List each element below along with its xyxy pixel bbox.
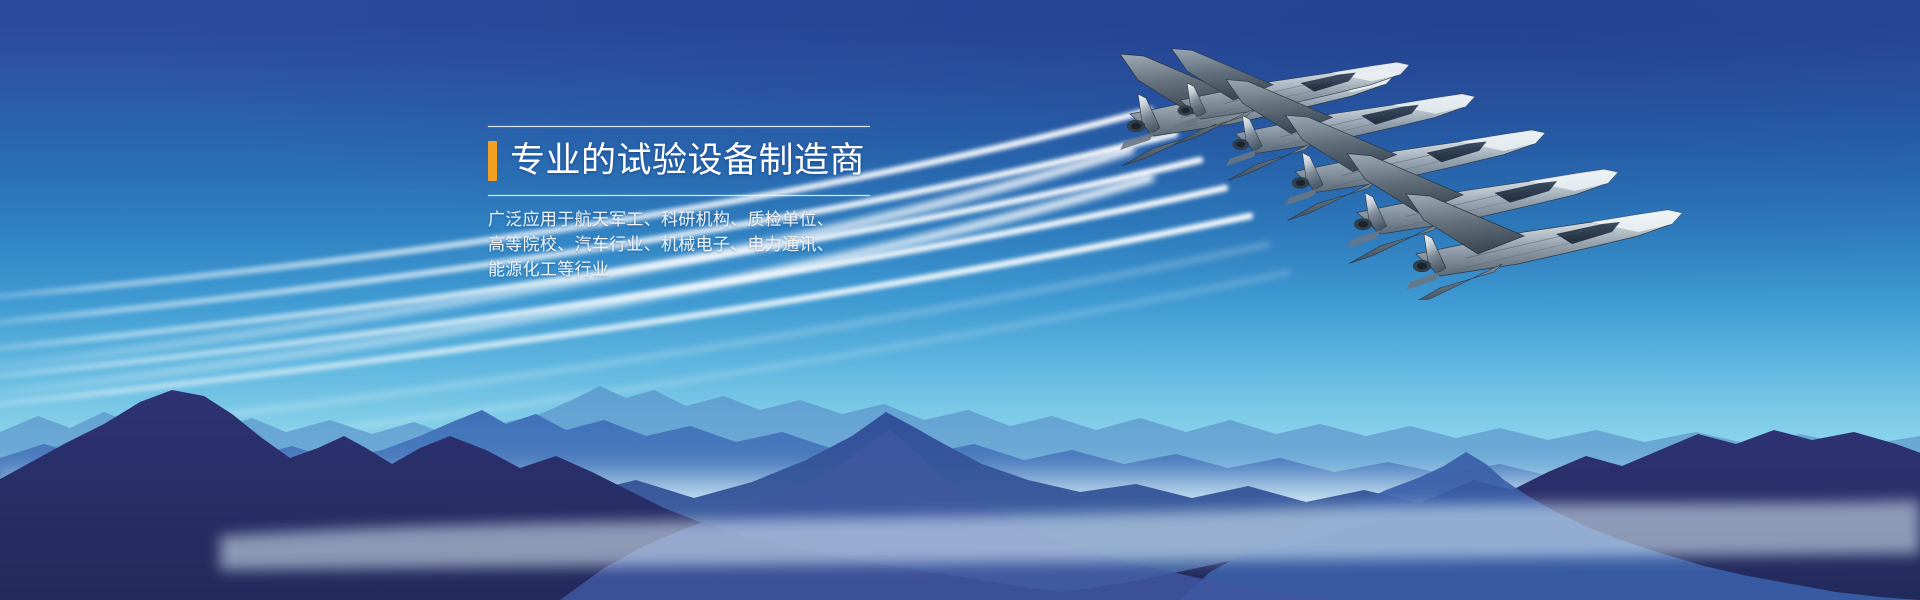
subtitle-line-2: 高等院校、汽车行业、机械电子、电力通讯、: [488, 232, 908, 257]
jet-formation-image: [1120, 40, 1920, 300]
mountain-range-silhouettes: [0, 340, 1920, 600]
divider-top: [488, 126, 870, 127]
banner-headline: 专业的试验设备制造商: [510, 141, 865, 181]
accent-bar: [488, 141, 497, 181]
subtitle-line-3: 能源化工等行业: [488, 257, 908, 282]
banner-text-block: 专业的试验设备制造商 广泛应用于航天军工、科研机构、质检单位、 高等院校、汽车行…: [488, 126, 908, 282]
headline-row: 专业的试验设备制造商: [488, 138, 908, 184]
divider-bottom-wrap: [488, 195, 908, 196]
subtitle-line-1: 广泛应用于航天军工、科研机构、质检单位、: [488, 207, 908, 232]
hero-banner: 专业的试验设备制造商 广泛应用于航天军工、科研机构、质检单位、 高等院校、汽车行…: [0, 0, 1920, 600]
divider-bottom: [488, 195, 870, 196]
banner-subtitle: 广泛应用于航天军工、科研机构、质检单位、 高等院校、汽车行业、机械电子、电力通讯…: [488, 207, 908, 282]
